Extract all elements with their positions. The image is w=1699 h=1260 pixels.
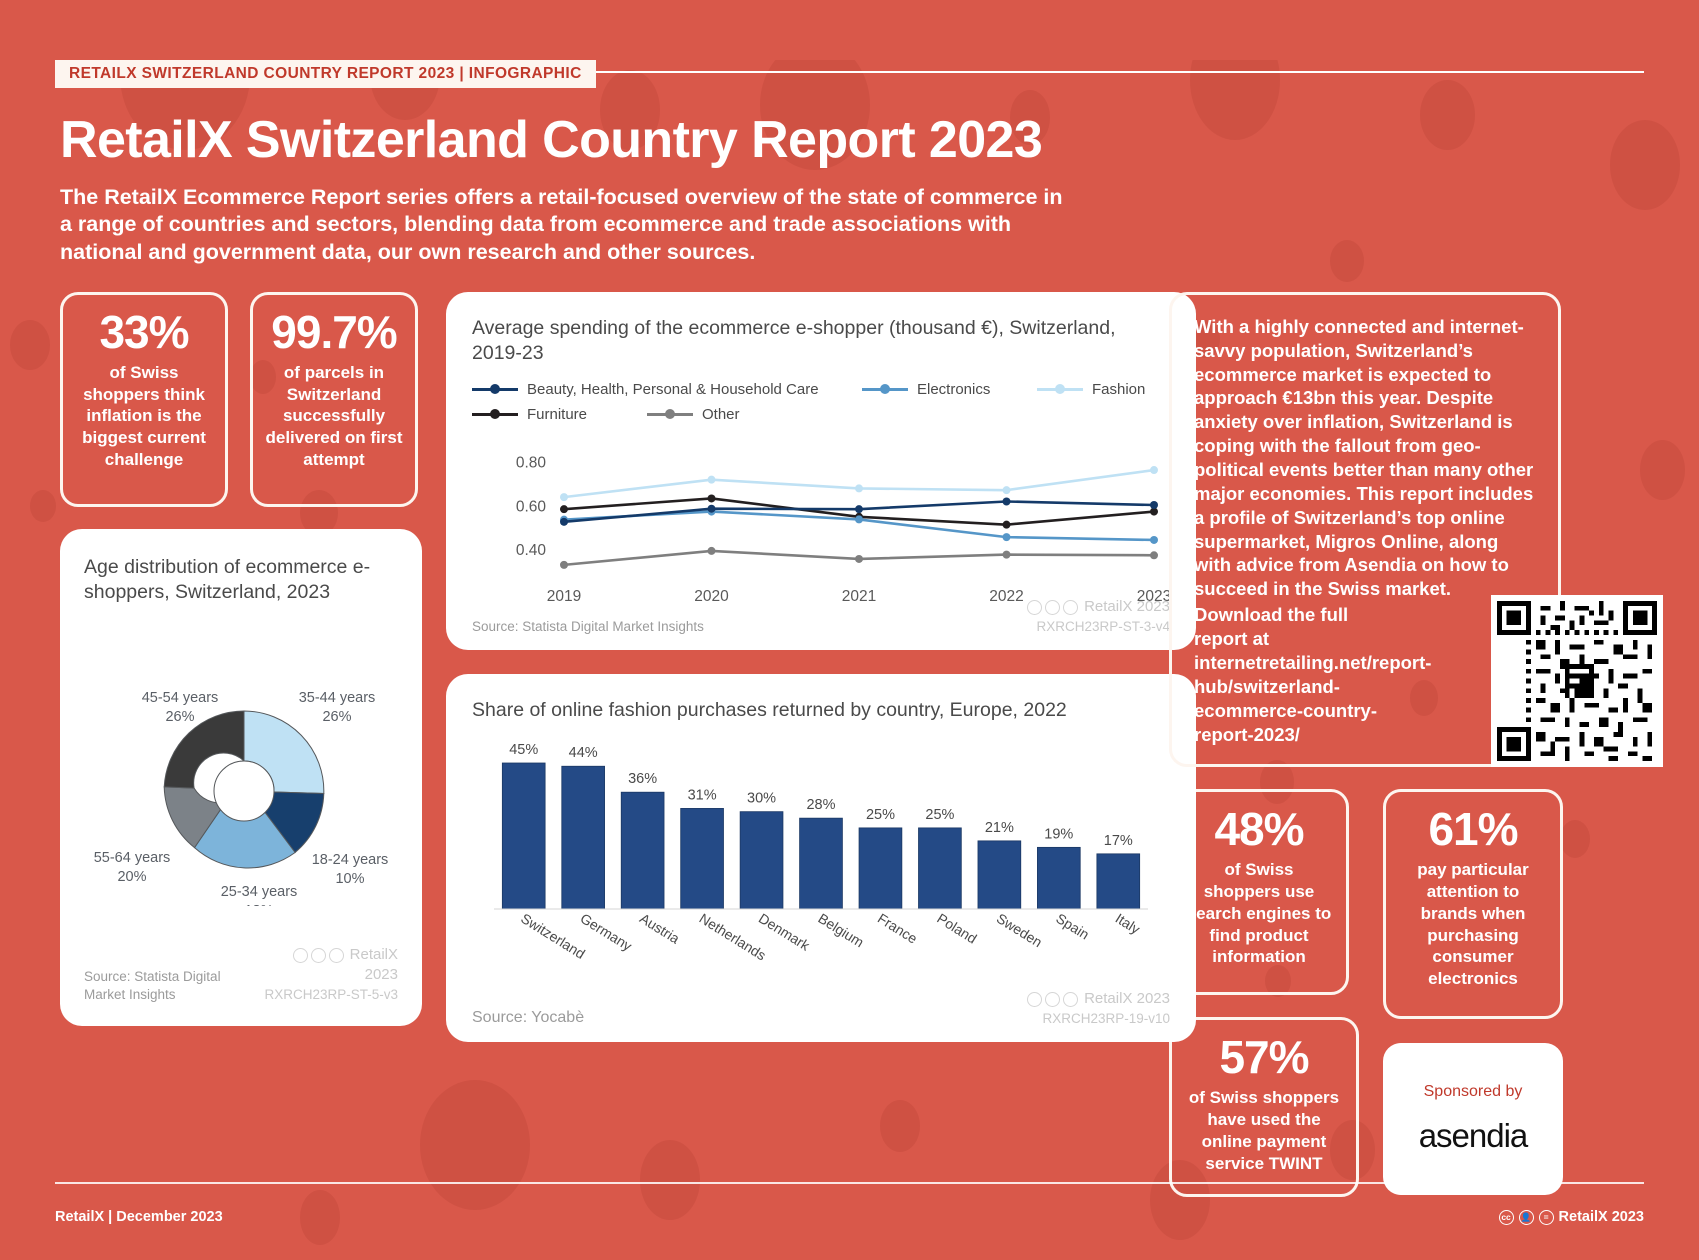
kpi-57-caption: of Swiss shoppers have used the online p… <box>1184 1087 1344 1174</box>
legend-swatch-beauty <box>472 383 518 395</box>
legend-item-fashion: Fashion <box>1037 381 1145 398</box>
kpi-33-caption: of Swiss shoppers think inflation is the… <box>75 362 213 471</box>
average-spending-card: Average spending of the ecommerce e-shop… <box>446 292 1196 650</box>
kpi-61-value: 61% <box>1428 806 1517 853</box>
legend-swatch-electronics <box>862 383 908 395</box>
kpi-99-7-value: 99.7% <box>271 309 396 356</box>
footer-divider <box>55 1182 1644 1184</box>
eyebrow-label: RETAILX SWITZERLAND COUNTRY REPORT 2023 … <box>55 60 596 88</box>
svg-text:45-54 years: 45-54 years <box>142 690 219 706</box>
cc-by-icon: 👤 <box>1519 1210 1534 1225</box>
legend-label-other: Other <box>702 406 740 423</box>
sponsor-logo: asendia <box>1419 1117 1528 1155</box>
age-distribution-card: Age distribution of ecommerce e-shoppers… <box>60 529 422 1026</box>
svg-text:20%: 20% <box>117 869 146 885</box>
kpi-33-value: 33% <box>99 309 188 356</box>
svg-text:45%: 45% <box>509 742 538 758</box>
footer-credit: RetailX 2023 <box>1559 1209 1644 1225</box>
legend-label-beauty: Beauty, Health, Personal & Household Car… <box>527 381 819 398</box>
svg-text:21%: 21% <box>985 820 1014 836</box>
footer-right: cc 👤 = RetailX 2023 <box>1499 1209 1644 1225</box>
average-spending-title: Average spending of the ecommerce e-shop… <box>472 316 1170 367</box>
legend-swatch-furniture <box>472 408 518 420</box>
kpi-48-value: 48% <box>1214 806 1303 853</box>
average-spending-credit-code: RXRCH23RP-ST-3-v4 <box>1027 618 1170 636</box>
svg-text:Spain: Spain <box>1053 910 1092 943</box>
svg-text:Belgium: Belgium <box>815 910 866 950</box>
cc-nd-icon: = <box>1539 1210 1554 1225</box>
svg-text:18-24 years: 18-24 years <box>312 852 389 868</box>
svg-text:31%: 31% <box>688 788 717 804</box>
fashion-returns-credit: RetailX 2023 RXRCH23RP-19-v10 <box>1027 989 1170 1027</box>
fashion-returns-card: Share of online fashion purchases return… <box>446 674 1196 1042</box>
age-distribution-credit: RetailX 2023 RXRCH23RP-ST-5-v3 <box>264 945 398 1004</box>
svg-text:Austria: Austria <box>637 910 683 947</box>
legend-label-electronics: Electronics <box>917 381 990 398</box>
creative-commons-icon <box>1027 600 1078 615</box>
legend-item-other: Other <box>647 406 740 423</box>
creative-commons-icon <box>1027 992 1078 1007</box>
sponsor-card: Sponsored by asendia <box>1383 1043 1563 1195</box>
intro-panel: With a highly connected and internet-sav… <box>1169 292 1561 767</box>
svg-text:0.60: 0.60 <box>516 498 547 515</box>
kpi-57-value: 57% <box>1219 1034 1308 1081</box>
svg-text:25%: 25% <box>925 807 954 823</box>
footer-left: RetailX | December 2023 <box>55 1209 223 1225</box>
age-distribution-source: Source: Statista Digital Market Insights <box>84 968 264 1004</box>
kpi-row: 33% of Swiss shoppers think inflation is… <box>60 292 422 507</box>
cc-icon: cc <box>1499 1210 1514 1225</box>
legend-label-furniture: Furniture <box>527 406 587 423</box>
average-spending-legend: Beauty, Health, Personal & Household Car… <box>472 381 1170 423</box>
age-distribution-donut: 45-54 years 26% 35-44 years 26% 18-24 ye… <box>84 606 398 906</box>
svg-text:10%: 10% <box>335 871 364 887</box>
legend-item-electronics: Electronics <box>862 381 1037 398</box>
svg-text:35-44 years: 35-44 years <box>299 690 376 706</box>
svg-text:28%: 28% <box>806 797 835 813</box>
kpi-48-caption: of Swiss shoppers use search engines to … <box>1184 859 1334 968</box>
svg-text:26%: 26% <box>322 709 351 725</box>
kpi-57-percent: 57% of Swiss shoppers have used the onli… <box>1169 1017 1359 1197</box>
svg-text:30%: 30% <box>747 791 776 807</box>
legend-swatch-fashion <box>1037 383 1083 395</box>
svg-text:55-64 years: 55-64 years <box>94 850 171 866</box>
legend-label-fashion: Fashion <box>1092 381 1145 398</box>
kpi-99-7-percent: 99.7% of parcels in Switzerland successf… <box>250 292 418 507</box>
kpi-99-7-caption: of parcels in Switzerland successfully d… <box>265 362 403 471</box>
footer: RetailX | December 2023 cc 👤 = RetailX 2… <box>55 1209 1644 1225</box>
svg-text:18%: 18% <box>244 903 273 906</box>
qr-code-icon[interactable] <box>1491 595 1663 767</box>
legend-swatch-other <box>647 408 693 420</box>
fashion-returns-source: Source: Yocabè <box>472 1007 584 1028</box>
intro-download-text: Download the full report at internetreta… <box>1194 603 1379 746</box>
svg-text:Italy: Italy <box>1113 910 1143 937</box>
right-kpi-row: 48% of Swiss shoppers use search engines… <box>1169 789 1644 1197</box>
svg-text:Switzerland: Switzerland <box>518 910 588 962</box>
age-distribution-title: Age distribution of ecommerce e-shoppers… <box>84 555 398 606</box>
creative-commons-icon <box>293 948 344 963</box>
svg-text:Netherlands: Netherlands <box>697 910 770 964</box>
kpi-48-percent: 48% of Swiss shoppers use search engines… <box>1169 789 1349 995</box>
svg-text:25%: 25% <box>866 807 895 823</box>
page-title: RetailX Switzerland Country Report 2023 <box>60 110 1644 170</box>
svg-text:Sweden: Sweden <box>994 910 1045 950</box>
top-rule: RETAILX SWITZERLAND COUNTRY REPORT 2023 … <box>55 60 1644 82</box>
legend-item-furniture: Furniture <box>472 406 647 423</box>
age-distribution-credit-code: RXRCH23RP-ST-5-v3 <box>264 986 398 1004</box>
svg-text:Poland: Poland <box>934 910 979 947</box>
legend-item-beauty: Beauty, Health, Personal & Household Car… <box>472 381 862 398</box>
average-spending-credit: RetailX 2023 RXRCH23RP-ST-3-v4 <box>1027 597 1170 635</box>
page-subtitle: The RetailX Ecommerce Report series offe… <box>60 184 1080 266</box>
average-spending-line-chart: 0.800.600.4020192020202120222023 <box>472 431 1170 626</box>
average-spending-source: Source: Statista Digital Market Insights <box>472 618 704 636</box>
fashion-returns-bar-chart: 45%Switzerland44%Germany36%Austria31%Net… <box>472 737 1170 982</box>
svg-text:France: France <box>875 910 921 947</box>
kpi-61-caption: pay particular attention to brands when … <box>1398 859 1548 990</box>
svg-text:44%: 44% <box>569 745 598 761</box>
svg-text:0.80: 0.80 <box>516 454 547 471</box>
svg-text:25-34 years: 25-34 years <box>221 884 298 900</box>
svg-text:26%: 26% <box>165 709 194 725</box>
svg-text:19%: 19% <box>1044 827 1073 843</box>
intro-body: With a highly connected and internet-sav… <box>1194 315 1536 601</box>
fashion-returns-credit-code: RXRCH23RP-19-v10 <box>1027 1010 1170 1028</box>
svg-text:0.40: 0.40 <box>516 542 547 559</box>
svg-text:36%: 36% <box>628 771 657 787</box>
kpi-33-percent: 33% of Swiss shoppers think inflation is… <box>60 292 228 507</box>
fashion-returns-title: Share of online fashion purchases return… <box>472 698 1170 723</box>
kpi-61-percent: 61% pay particular attention to brands w… <box>1383 789 1563 1019</box>
sponsor-label: Sponsored by <box>1424 1083 1523 1101</box>
svg-text:17%: 17% <box>1104 833 1133 849</box>
